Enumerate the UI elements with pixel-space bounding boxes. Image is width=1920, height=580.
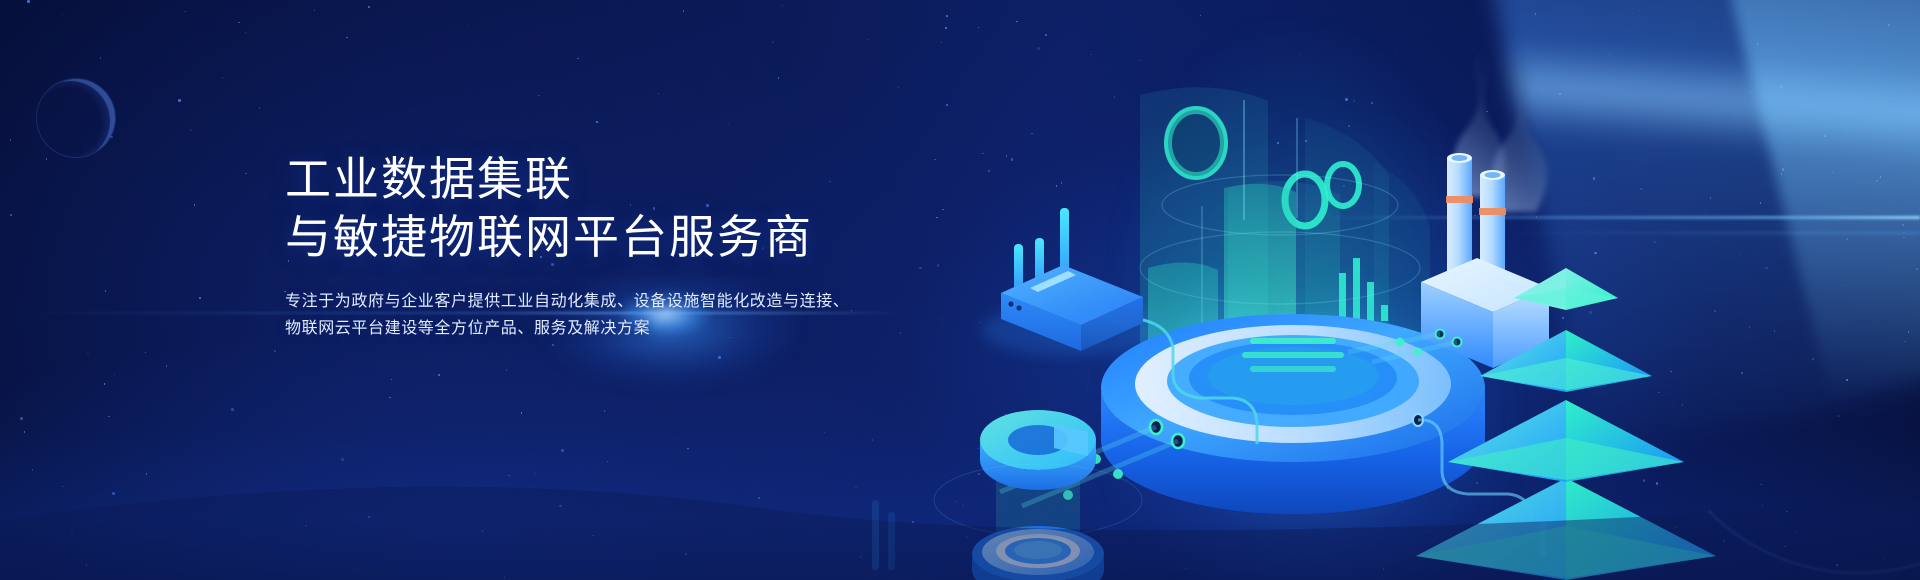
factory-chimneys — [1421, 44, 1549, 368]
hero-banner: 工业数据集联 与敏捷物联网平台服务商 专注于为政府与企业客户提供工业自动化集成、… — [0, 0, 1920, 580]
circular-platform-disc — [1101, 314, 1485, 514]
page-title-line-2: 与敏捷物联网平台服务商 — [285, 208, 849, 266]
page-title-line-1: 工业数据集联 — [285, 150, 849, 208]
subtitle-line-1: 专注于为政府与企业客户提供工业自动化集成、设备设施智能化改造与连接、 — [285, 288, 849, 315]
hero-copy: 工业数据集联 与敏捷物联网平台服务商 专注于为政府与企业客户提供工业自动化集成、… — [285, 150, 849, 342]
subtitle-line-2: 物联网云平台建设等全方位产品、服务及解决方案 — [285, 315, 849, 342]
disc-data-lines — [1242, 338, 1344, 372]
